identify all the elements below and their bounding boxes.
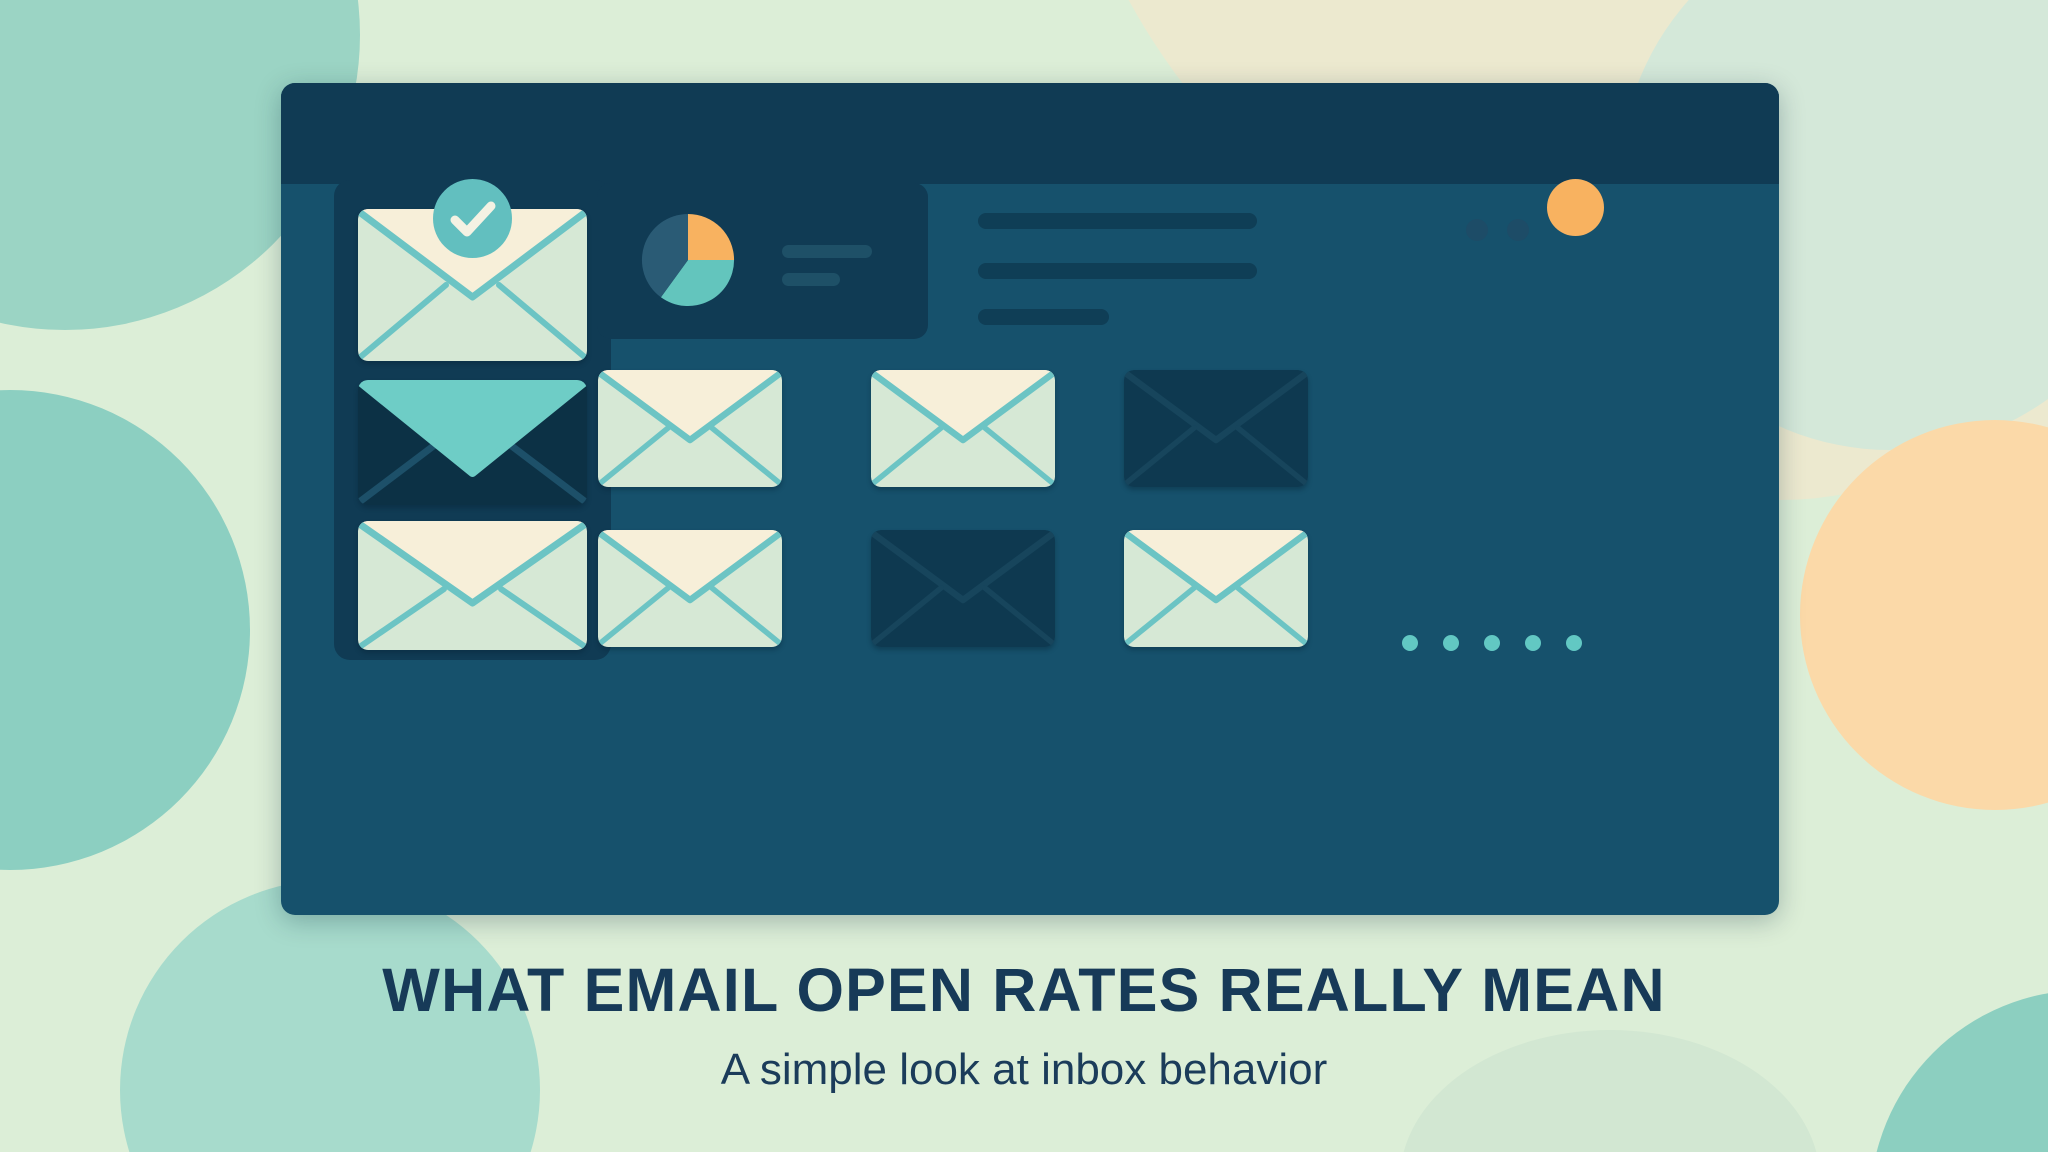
toolbar-dot-1[interactable] — [1466, 219, 1488, 241]
placeholder-text-bar-2 — [978, 263, 1257, 279]
pagination-dot-2[interactable] — [1443, 635, 1459, 651]
page-title: WHAT EMAIL OPEN RATES REALLY MEAN — [0, 955, 2048, 1025]
envelope-open-icon — [358, 380, 587, 505]
envelope-light-icon — [358, 521, 587, 650]
grid-envelope-light[interactable] — [598, 370, 782, 487]
window-titlebar — [281, 83, 1779, 184]
inbox-item-opened[interactable] — [358, 380, 587, 505]
pagination-dot-1[interactable] — [1402, 635, 1418, 651]
check-badge-icon — [433, 179, 512, 258]
envelope-light-icon — [598, 530, 782, 647]
stats-legend-bar-1 — [782, 245, 872, 258]
stats-legend-bar-2 — [782, 273, 840, 286]
placeholder-text-bar-1 — [978, 213, 1257, 229]
caption-block: WHAT EMAIL OPEN RATES REALLY MEAN A simp… — [0, 955, 2048, 1095]
pie-slice-opened — [688, 214, 734, 260]
open-rate-stats-card[interactable] — [597, 183, 928, 339]
pagination-dot-3[interactable] — [1484, 635, 1500, 651]
placeholder-text-bar-3 — [978, 309, 1109, 325]
browser-window — [281, 83, 1779, 915]
grid-envelope-dark[interactable] — [1124, 370, 1308, 487]
envelope-light-icon — [1124, 530, 1308, 647]
pagination-dot-5[interactable] — [1566, 635, 1582, 651]
envelope-dark-icon — [1124, 370, 1308, 487]
message-grid — [598, 370, 1598, 730]
inbox-item-read-confirmed[interactable] — [358, 209, 587, 361]
envelope-light-icon — [871, 370, 1055, 487]
inbox-item-unread[interactable] — [358, 521, 587, 650]
grid-envelope-light[interactable] — [871, 370, 1055, 487]
page-subtitle: A simple look at inbox behavior — [0, 1045, 2048, 1095]
profile-avatar-circle[interactable] — [1547, 179, 1604, 236]
bg-shape-teal-mid-left — [0, 390, 250, 870]
grid-envelope-dark[interactable] — [871, 530, 1055, 647]
grid-envelope-light[interactable] — [1124, 530, 1308, 647]
grid-envelope-light[interactable] — [598, 530, 782, 647]
toolbar-dot-2[interactable] — [1507, 219, 1529, 241]
pagination-dot-4[interactable] — [1525, 635, 1541, 651]
pagination-dots — [1402, 635, 1582, 655]
envelope-light-icon — [598, 370, 782, 487]
open-rate-pie-chart — [639, 211, 737, 309]
inbox-list-panel — [334, 180, 611, 660]
envelope-dark-icon — [871, 530, 1055, 647]
